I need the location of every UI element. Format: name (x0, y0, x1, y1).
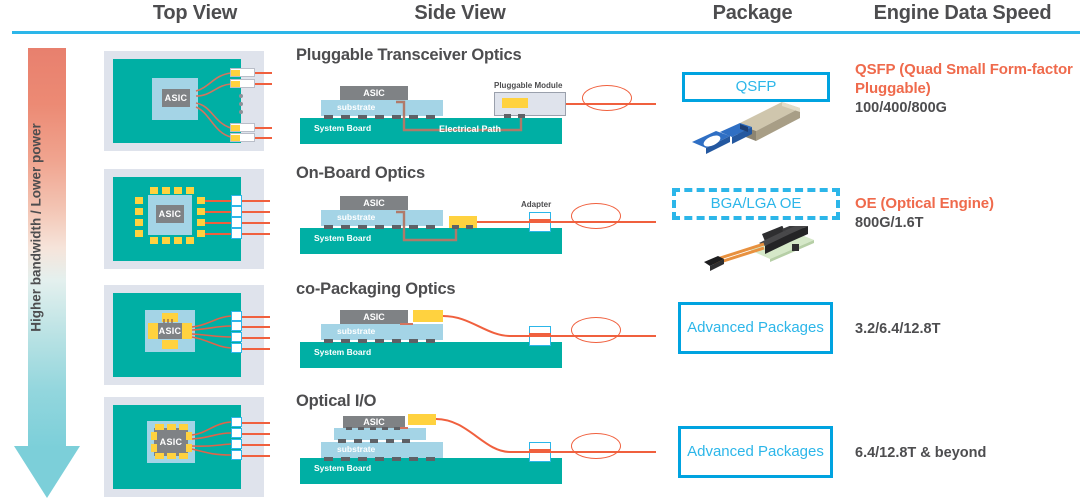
fiber-lead (255, 83, 272, 85)
fiber-lead (205, 211, 231, 213)
faceplate-adapter (231, 332, 242, 342)
top-view-pluggable: ASIC (104, 51, 264, 151)
table-row: ASIC (0, 164, 1080, 280)
engine-name: OE (Optical Engine) (855, 194, 1080, 213)
optical-engine-top (174, 187, 182, 194)
fiber-lead (242, 211, 270, 213)
engine-speed-cell: QSFP (Quad Small Form-factor Pluggable) … (855, 46, 1080, 162)
engine-rate: 800G/1.6T (855, 214, 1080, 233)
column-header-top-view: Top View (100, 2, 290, 25)
fiber-lead (205, 222, 231, 224)
column-header-package: Package (660, 2, 845, 25)
engine-speed-cell: 3.2/6.4/12.8T (855, 280, 1080, 396)
side-view-optical-io: Optical I/O System Board substrate ASIC (296, 392, 656, 502)
faceplate-adapter (231, 195, 242, 206)
engine-rate: 3.2/6.4/12.8T (855, 320, 1080, 339)
diagram-canvas: Top View Side View Package Engine Data S… (0, 0, 1080, 502)
fiber-lead (205, 233, 231, 235)
fiber-loop (571, 203, 621, 229)
engine-rate: 100/400/800G (855, 99, 1080, 118)
top-view-optical-io: ASIC (104, 397, 264, 497)
ellipsis-dot (239, 94, 243, 98)
electrical-path-label: Electrical Path (439, 124, 501, 134)
adapter-label: Adapter (521, 200, 551, 209)
faceplate-adapter (231, 417, 242, 427)
column-header-engine-data-speed: Engine Data Speed (845, 2, 1080, 25)
fiber-lead (242, 337, 270, 339)
pluggable-module-label: Pluggable Module (494, 81, 562, 90)
package-cell-advanced-2: Advanced Packages (660, 392, 850, 502)
optical-engine-top (135, 208, 143, 215)
optical-engine-top (135, 219, 143, 226)
optical-engine-top (135, 197, 143, 204)
qsfp-transceiver-photo (682, 98, 806, 154)
fiber-lead (242, 326, 270, 328)
adapter-ferrule (529, 333, 551, 337)
ellipsis-dot (239, 102, 243, 106)
fiber-lead (255, 137, 272, 139)
fiber-loop (571, 433, 621, 459)
optical-engine-top (197, 208, 205, 215)
table-row: ASIC Pluggab (0, 46, 1080, 164)
fiber-loop (571, 317, 621, 343)
faceplate-adapter (231, 450, 242, 460)
module-ferrule (231, 135, 240, 141)
optical-engine-top (150, 187, 158, 194)
top-view-copackaged: ASIC (104, 285, 264, 385)
table-row: ASIC Op (0, 392, 1080, 502)
package-box[interactable]: BGA/LGA OE (672, 188, 840, 220)
module-pad (518, 114, 525, 118)
package-cell-bga-lga-oe: BGA/LGA OE (660, 164, 850, 280)
header-divider-rule (12, 31, 1080, 34)
module-ferrule (231, 70, 240, 76)
side-view-copackaged: co-Packaging Optics System Board substra… (296, 280, 656, 396)
optical-engine-top (186, 187, 194, 194)
ellipsis-dot (239, 110, 243, 114)
faceplate-adapter (231, 343, 242, 353)
optical-engine-top (162, 237, 170, 244)
optical-fiber (477, 221, 656, 223)
engine-speed-cell: OE (Optical Engine) 800G/1.6T (855, 164, 1080, 280)
optical-engine-top (135, 230, 143, 237)
faceplate-adapter (231, 217, 242, 228)
optical-engine-top (174, 237, 182, 244)
fiber-lead (242, 200, 270, 202)
adapter-ferrule (529, 449, 551, 453)
oe-pad (452, 225, 459, 229)
faceplate-adapter (231, 428, 242, 438)
faceplate-adapter (231, 439, 242, 449)
optical-engine-top (197, 197, 205, 204)
module-ferrule (231, 81, 240, 87)
engine-speed-cell: 6.4/12.8T & beyond (855, 392, 1080, 502)
optical-engine-top (197, 230, 205, 237)
fiber-lead (205, 200, 231, 202)
optical-engine-top (150, 237, 158, 244)
side-view-onboard: On-Board Optics System Board substrate A… (296, 164, 656, 280)
fiber-loop (582, 85, 632, 111)
module-pad (504, 114, 511, 118)
faceplate-adapter (231, 321, 242, 331)
faceplate-adapter (231, 228, 242, 239)
fiber-lead (242, 233, 270, 235)
fiber-lead (242, 316, 270, 318)
column-header-side-view: Side View (295, 2, 625, 25)
optical-engine-top (162, 187, 170, 194)
fiber-lead (242, 222, 270, 224)
package-box[interactable]: Advanced Packages (678, 426, 833, 478)
adapter-ferrule (529, 219, 551, 223)
top-view-onboard: ASIC (104, 169, 264, 269)
package-cell-advanced-1: Advanced Packages (660, 280, 850, 396)
package-box[interactable]: Advanced Packages (678, 302, 833, 354)
package-cell-qsfp: QSFP (660, 46, 850, 162)
faceplate-adapter (231, 206, 242, 217)
fiber-lead (242, 433, 270, 435)
optical-engine-top (197, 219, 205, 226)
fiber-lead (255, 127, 272, 129)
side-view-pluggable: Pluggable Transceiver Optics System Boar… (296, 46, 656, 162)
on-board-optics-module-photo (702, 226, 820, 274)
fiber-lead (242, 455, 270, 457)
module-ferrule (231, 125, 240, 131)
faceplate-adapter (231, 311, 242, 321)
engine-rate: 6.4/12.8T & beyond (855, 444, 1080, 463)
fiber-lead (255, 72, 272, 74)
engine-name: QSFP (Quad Small Form-factor Pluggable) (855, 60, 1080, 98)
fiber-lead (242, 422, 270, 424)
optical-engine-top (186, 237, 194, 244)
asic-block-top: ASIC (156, 205, 184, 223)
fiber-lead (242, 444, 270, 446)
optical-engine-block (502, 98, 528, 108)
oe-pad (466, 225, 473, 229)
table-row: ASIC co-Packaging Optics (0, 280, 1080, 392)
fiber-lead (242, 348, 270, 350)
